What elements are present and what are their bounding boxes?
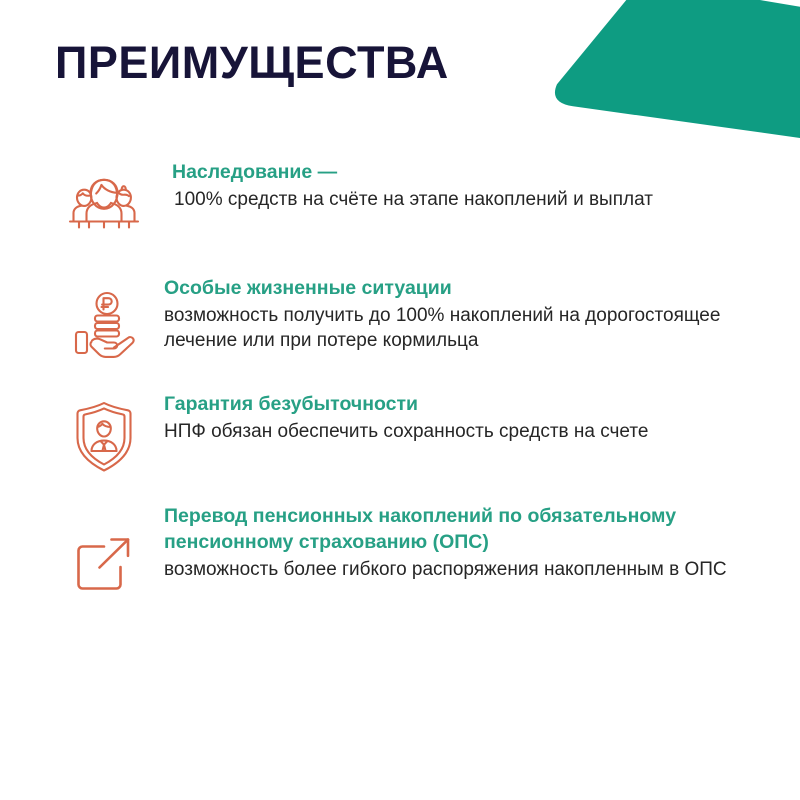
- benefit-item: Особые жизненные ситуации возможность по…: [0, 276, 800, 364]
- benefit-body: возможность более гибкого распоряжения н…: [164, 557, 760, 582]
- benefit-body: возможность получить до 100% накоплений …: [164, 303, 760, 354]
- benefit-title: Особые жизненные ситуации: [164, 276, 760, 302]
- benefit-item: Гарантия безубыточности НПФ обязан обесп…: [0, 392, 800, 474]
- page-title: ПРЕИМУЩЕСТВА: [55, 40, 449, 85]
- benefit-title: Гарантия безубыточности: [164, 392, 760, 418]
- benefit-item: Наследование — 100% средств на счёте на …: [0, 160, 800, 236]
- benefit-title: Перевод пенсионных накоплений по обязате…: [164, 504, 760, 556]
- slide-root: ПРЕИМУЩЕСТВА: [0, 0, 800, 800]
- benefit-body: 100% средств на счёте на этапе накоплени…: [172, 187, 760, 212]
- benefit-text: Особые жизненные ситуации возможность по…: [164, 276, 800, 353]
- benefit-item: Перевод пенсионных накоплений по обязате…: [0, 504, 800, 596]
- hand-with-ruble-coins-icon: [58, 276, 150, 364]
- benefits-list: Наследование — 100% средств на счёте на …: [0, 160, 800, 596]
- benefit-text: Перевод пенсионных накоплений по обязате…: [164, 504, 800, 582]
- export-arrow-icon: [58, 504, 150, 596]
- family-group-icon: [58, 160, 150, 236]
- benefit-text: Гарантия безубыточности НПФ обязан обесп…: [164, 392, 800, 444]
- shield-with-person-icon: [58, 392, 150, 474]
- benefit-body: НПФ обязан обеспечить сохранность средст…: [164, 419, 760, 444]
- benefit-text: Наследование — 100% средств на счёте на …: [164, 160, 800, 212]
- benefit-title: Наследование —: [172, 160, 760, 186]
